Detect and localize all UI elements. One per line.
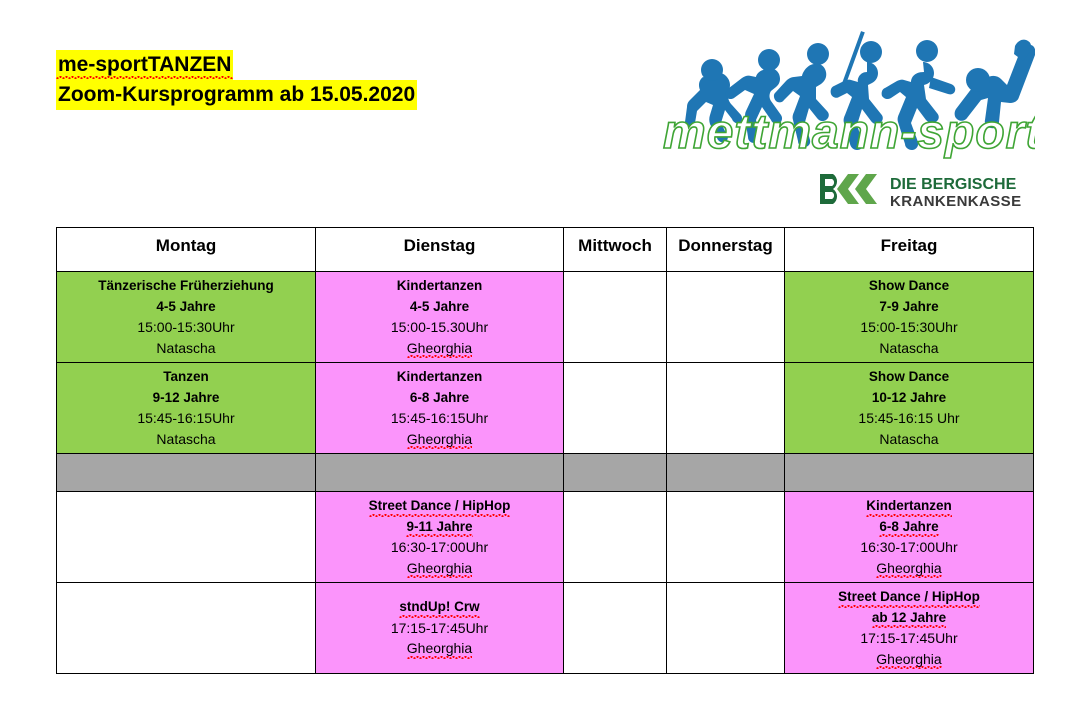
spellcheck-underline-wrap: Gheorghia — [876, 649, 941, 670]
spellcheck-underline-wrap: Gheorghia — [876, 558, 941, 579]
course-age: 4-5 Jahre — [59, 297, 313, 318]
empty-cell — [667, 583, 785, 674]
table-body: Tänzerische Früherziehung4-5 Jahre15:00-… — [57, 272, 1034, 674]
spellcheck-squiggle — [879, 534, 938, 537]
document-page: me-sportTANZEN Zoom-Kursprogramm ab 15.0… — [0, 0, 1080, 712]
spellcheck-underline-wrap: Gheorghia — [407, 638, 472, 659]
spellcheck-squiggle — [407, 656, 472, 659]
course-name: Kindertanzen — [318, 276, 561, 297]
table-row: Tanzen9-12 Jahre15:45-16:15UhrNataschaKi… — [57, 363, 1034, 454]
title-line-1-wrap: me-sportTANZEN — [56, 50, 233, 80]
document-title-block: me-sportTANZEN Zoom-Kursprogramm ab 15.0… — [56, 50, 417, 110]
spellcheck-underline-wrap: Gheorghia — [407, 558, 472, 579]
course-instructor: Natascha — [59, 338, 313, 359]
course-instructor: Gheorghia — [787, 649, 1031, 670]
empty-cell — [564, 454, 667, 492]
column-header-dienstag: Dienstag — [316, 228, 564, 272]
course-name: Street Dance / HipHop — [318, 496, 561, 517]
course-name: Show Dance — [787, 276, 1031, 297]
course-name: Kindertanzen — [787, 496, 1031, 517]
course-time: 15:00-15.30Uhr — [318, 317, 561, 338]
course-instructor: Gheorghia — [318, 638, 561, 659]
course-name: Show Dance — [787, 367, 1031, 388]
course-cell: Show Dance7-9 Jahre15:00-15:30UhrNatasch… — [785, 272, 1034, 363]
spellcheck-underline-wrap: ab 12 Jahre — [872, 608, 946, 629]
table-row: stndUp! Crw17:15-17:45UhrGheorghiaStreet… — [57, 583, 1034, 674]
course-age: 9-12 Jahre — [59, 388, 313, 409]
empty-cell — [564, 363, 667, 454]
empty-cell — [564, 272, 667, 363]
spellcheck-squiggle — [407, 355, 472, 358]
table-row: Tänzerische Früherziehung4-5 Jahre15:00-… — [57, 272, 1034, 363]
course-age: 4-5 Jahre — [318, 297, 561, 318]
empty-cell — [316, 454, 564, 492]
table-separator-row — [57, 454, 1034, 492]
course-age: ab 12 Jahre — [787, 608, 1031, 629]
bkk-logo-svg: DIE BERGISCHE KRANKENKASSE — [818, 170, 1033, 212]
mettmann-sport-logo: mettmann-sport — [655, 22, 1035, 162]
spellcheck-squiggle — [407, 575, 472, 578]
spellcheck-underline-wrap: Gheorghia — [407, 429, 472, 450]
spellcheck-squiggle — [407, 446, 472, 449]
sponsor-line-2: KRANKENKASSE — [890, 193, 1021, 210]
course-name: stndUp! Crw — [318, 597, 561, 618]
empty-cell — [57, 583, 316, 674]
course-instructor: Natascha — [59, 429, 313, 450]
page-title-line-1: me-sportTANZEN — [56, 50, 233, 80]
page-title-line-2: Zoom-Kursprogramm ab 15.05.2020 — [56, 80, 417, 110]
spellcheck-squiggle — [399, 615, 479, 618]
course-cell: Kindertanzen6-8 Jahre16:30-17:00UhrGheor… — [785, 492, 1034, 583]
column-header-mittwoch: Mittwoch — [564, 228, 667, 272]
spellcheck-underline-wrap: Street Dance / HipHop — [369, 496, 511, 517]
empty-cell — [667, 363, 785, 454]
spellcheck-squiggle — [872, 625, 946, 628]
table-row: Street Dance / HipHop9-11 Jahre16:30-17:… — [57, 492, 1034, 583]
empty-cell — [564, 583, 667, 674]
mettmann-sport-logo-svg: mettmann-sport — [655, 22, 1035, 162]
course-name: Kindertanzen — [318, 367, 561, 388]
course-schedule-table: Montag Dienstag Mittwoch Donnerstag Frei… — [56, 227, 1034, 674]
course-instructor: Natascha — [787, 338, 1031, 359]
course-time: 15:00-15:30Uhr — [787, 317, 1031, 338]
course-age: 9-11 Jahre — [318, 517, 561, 538]
column-header-donnerstag: Donnerstag — [667, 228, 785, 272]
empty-cell — [667, 492, 785, 583]
course-instructor: Gheorghia — [318, 338, 561, 359]
course-time: 15:00-15:30Uhr — [59, 317, 313, 338]
empty-cell — [667, 454, 785, 492]
course-name: Tanzen — [59, 367, 313, 388]
empty-cell — [785, 454, 1034, 492]
empty-cell — [564, 492, 667, 583]
empty-cell — [667, 272, 785, 363]
spellcheck-underline-wrap: Street Dance / HipHop — [838, 587, 980, 608]
course-cell: Kindertanzen4-5 Jahre15:00-15.30UhrGheor… — [316, 272, 564, 363]
table-header-row: Montag Dienstag Mittwoch Donnerstag Frei… — [57, 228, 1034, 272]
course-cell: Kindertanzen6-8 Jahre15:45-16:15UhrGheor… — [316, 363, 564, 454]
course-time: 15:45-16:15 Uhr — [787, 408, 1031, 429]
spellcheck-underline-wrap: Gheorghia — [407, 338, 472, 359]
spellcheck-underline-wrap: Kindertanzen — [866, 496, 952, 517]
spellcheck-underline-wrap: 9-11 Jahre — [406, 517, 472, 538]
empty-cell — [57, 492, 316, 583]
course-instructor: Gheorghia — [787, 558, 1031, 579]
course-cell: Street Dance / HipHopab 12 Jahre17:15-17… — [785, 583, 1034, 674]
spellcheck-squiggle — [406, 534, 472, 537]
course-age: 10-12 Jahre — [787, 388, 1031, 409]
course-name: Street Dance / HipHop — [787, 587, 1031, 608]
column-header-montag: Montag — [57, 228, 316, 272]
bergische-krankenkasse-logo: DIE BERGISCHE KRANKENKASSE — [818, 170, 1033, 212]
course-cell: Street Dance / HipHop9-11 Jahre16:30-17:… — [316, 492, 564, 583]
course-time: 16:30-17:00Uhr — [787, 537, 1031, 558]
course-time: 16:30-17:00Uhr — [318, 537, 561, 558]
spellcheck-squiggle — [876, 666, 941, 669]
course-time: 17:15-17:45Uhr — [318, 618, 561, 639]
spellcheck-underline-wrap: stndUp! Crw — [399, 597, 479, 618]
course-instructor: Natascha — [787, 429, 1031, 450]
spellcheck-squiggle — [876, 575, 941, 578]
course-age: 6-8 Jahre — [318, 388, 561, 409]
spellcheck-underline-wrap: 6-8 Jahre — [879, 517, 938, 538]
course-time: 15:45-16:15Uhr — [59, 408, 313, 429]
course-cell: Tanzen9-12 Jahre15:45-16:15UhrNatascha — [57, 363, 316, 454]
sponsor-line-1: DIE BERGISCHE — [890, 176, 1017, 193]
course-cell: Show Dance10-12 Jahre15:45-16:15 UhrNata… — [785, 363, 1034, 454]
course-age: 6-8 Jahre — [787, 517, 1031, 538]
course-name: Tänzerische Früherziehung — [59, 276, 313, 297]
bkk-mark-icon — [820, 174, 877, 204]
course-instructor: Gheorghia — [318, 429, 561, 450]
course-time: 17:15-17:45Uhr — [787, 628, 1031, 649]
column-header-freitag: Freitag — [785, 228, 1034, 272]
course-instructor: Gheorghia — [318, 558, 561, 579]
empty-cell — [57, 454, 316, 492]
mettmann-sport-wordmark: mettmann-sport — [663, 106, 1035, 159]
course-cell: stndUp! Crw17:15-17:45UhrGheorghia — [316, 583, 564, 674]
course-age: 7-9 Jahre — [787, 297, 1031, 318]
course-cell: Tänzerische Früherziehung4-5 Jahre15:00-… — [57, 272, 316, 363]
course-time: 15:45-16:15Uhr — [318, 408, 561, 429]
